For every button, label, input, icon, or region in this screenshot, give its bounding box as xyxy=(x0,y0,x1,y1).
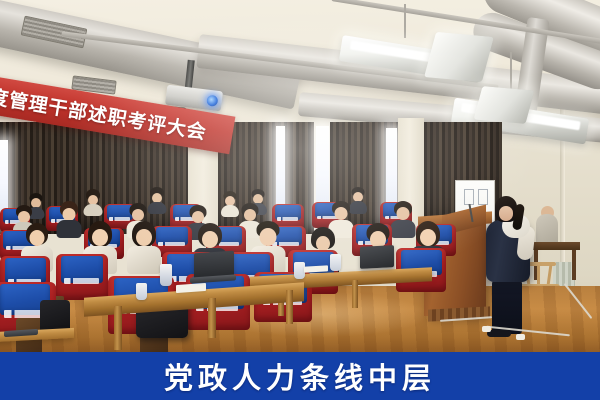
meeting-photo: 度管理干部述职考评大会 xyxy=(0,0,600,352)
caption-text: 党政人力条线中层 xyxy=(164,355,436,397)
table-leg xyxy=(208,298,216,338)
whiteboard-sketch xyxy=(478,189,488,205)
cable-plug xyxy=(482,326,491,332)
document-paper xyxy=(304,265,328,272)
presenter-face xyxy=(499,206,513,221)
seat xyxy=(56,254,108,300)
audience-member xyxy=(58,204,79,234)
laptop-screen xyxy=(360,245,394,269)
paper-cup xyxy=(330,254,341,271)
audience-member xyxy=(130,224,158,270)
fluorescent-light-icon xyxy=(474,86,535,124)
side-table-leg xyxy=(572,250,576,280)
audience-member xyxy=(350,190,366,211)
table-leg xyxy=(114,306,122,350)
paper-cup xyxy=(136,283,147,300)
audience-member xyxy=(148,190,165,212)
cable-plug xyxy=(516,334,525,340)
screenshot-root: 度管理干部述职考评大会 xyxy=(0,0,600,400)
projector-lens-icon xyxy=(206,95,218,107)
audience-member xyxy=(392,204,413,234)
audience-member xyxy=(84,192,101,214)
fluorescent-light-icon xyxy=(424,32,494,82)
presenter-legs xyxy=(492,278,522,334)
paper-cup xyxy=(160,264,172,286)
audience-member xyxy=(222,194,238,215)
table-leg xyxy=(352,280,358,308)
side-table xyxy=(528,242,580,250)
lamp-hanger xyxy=(404,4,406,38)
table-leg xyxy=(286,290,293,324)
lamp-hanger xyxy=(510,52,512,90)
caption-banner: 党政人力条线中层 xyxy=(0,352,600,400)
